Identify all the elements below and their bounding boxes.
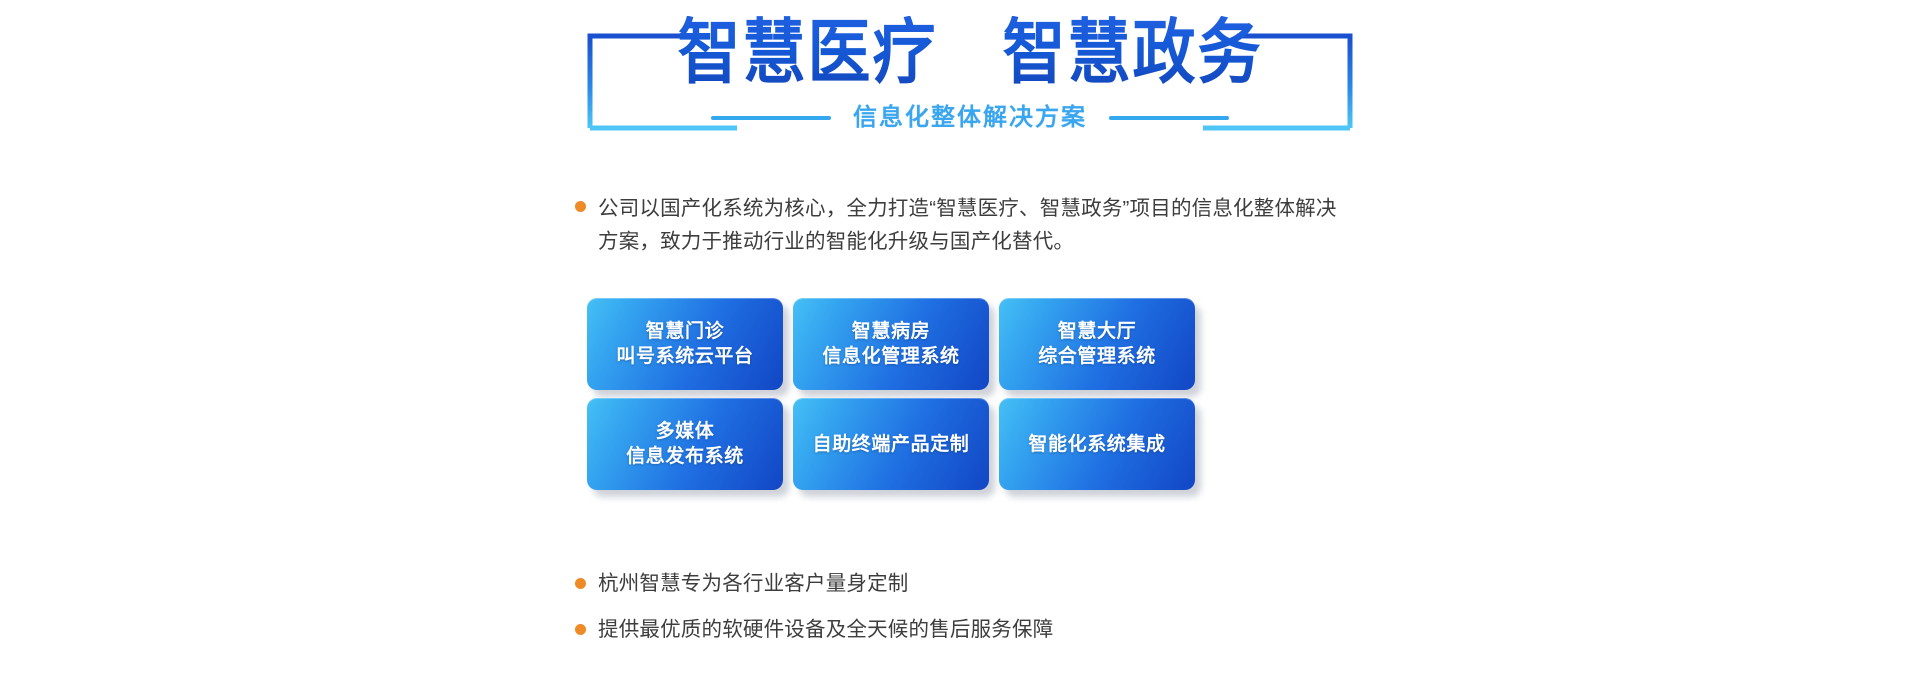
solution-card[interactable]: 多媒体 信息发布系统 [587, 398, 783, 490]
title-row: 智慧医疗 智慧政务 [575, 16, 1365, 82]
list-item: 杭州智慧专为各行业客户量身定制 [575, 570, 1365, 598]
solution-card-label: 智慧门诊 叫号系统云平台 [608, 319, 761, 369]
header: 智慧医疗 智慧政务 信息化整体解决方案 [575, 0, 1365, 160]
solution-card[interactable]: 自助终端产品定制 [793, 398, 989, 490]
solution-card[interactable]: 智慧门诊 叫号系统云平台 [587, 298, 783, 390]
solution-card-grid: 智慧门诊 叫号系统云平台 智慧病房 信息化管理系统 智慧大厅 综合管理系统 多媒… [587, 298, 1355, 490]
lead-paragraph-text: 公司以国产化系统为核心，全力打造“智慧医疗、智慧政务”项目的信息化整体解决方案，… [598, 192, 1340, 258]
footer-bullet-list: 杭州智慧专为各行业客户量身定制 提供最优质的软硬件设备及全天候的售后服务保障 [575, 570, 1365, 662]
list-item-label: 提供最优质的软硬件设备及全天候的售后服务保障 [598, 616, 1053, 644]
bullet-dot-icon [575, 624, 586, 635]
page-subtitle: 信息化整体解决方案 [847, 104, 1093, 133]
solution-card-label: 智慧大厅 综合管理系统 [1030, 319, 1164, 369]
subtitle-rule-right [1109, 116, 1229, 120]
bullet-dot-icon [575, 578, 586, 589]
subtitle-row: 信息化整体解决方案 [575, 104, 1365, 133]
solution-card-label: 智慧病房 信息化管理系统 [814, 319, 967, 369]
content-column: 智慧医疗 智慧政务 信息化整体解决方案 公司以国产化系统为核心，全力打造“智慧医… [575, 0, 1365, 680]
subtitle-rule-left [711, 116, 831, 120]
page-title: 智慧医疗 智慧政务 [678, 16, 1263, 90]
list-item: 提供最优质的软硬件设备及全天候的售后服务保障 [575, 616, 1365, 644]
promo-banner: 智慧医疗 智慧政务 信息化整体解决方案 公司以国产化系统为核心，全力打造“智慧医… [0, 0, 1920, 680]
bullet-dot-icon [575, 201, 586, 212]
solution-card[interactable]: 智慧大厅 综合管理系统 [999, 298, 1195, 390]
list-item-label: 杭州智慧专为各行业客户量身定制 [598, 570, 909, 598]
lead-paragraph: 公司以国产化系统为核心，全力打造“智慧医疗、智慧政务”项目的信息化整体解决方案，… [575, 192, 1365, 258]
solution-card[interactable]: 智能化系统集成 [999, 398, 1195, 490]
solution-card[interactable]: 智慧病房 信息化管理系统 [793, 298, 989, 390]
solution-card-label: 自助终端产品定制 [805, 432, 978, 457]
solution-card-label: 智能化系统集成 [1020, 432, 1173, 457]
solution-card-label: 多媒体 信息发布系统 [618, 419, 752, 469]
